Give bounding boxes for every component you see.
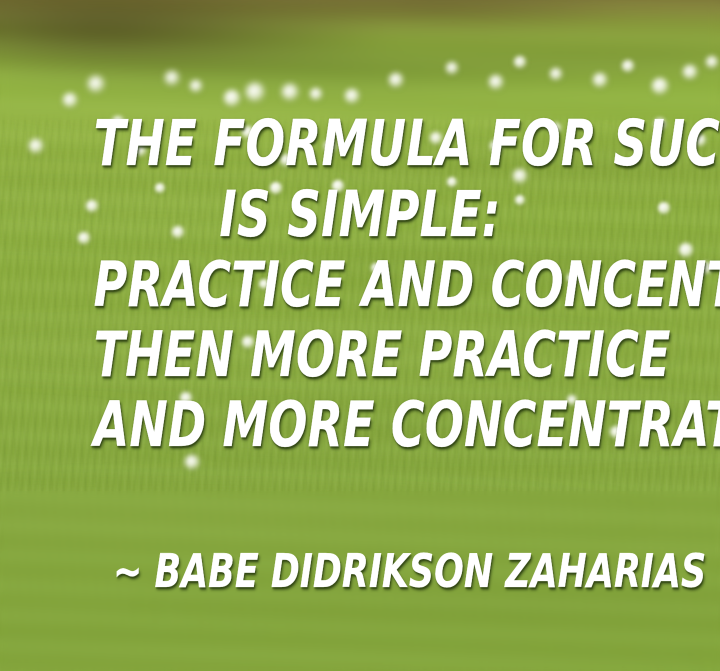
golf-ball xyxy=(593,73,607,87)
golf-ball xyxy=(63,93,77,107)
attribution-block: ~BABE DIDRIKSON ZAHARIAS xyxy=(0,548,720,594)
quote-line-2: IS SIMPLE: xyxy=(94,183,627,246)
quote-line-5: AND MORE CONCENTRATION. xyxy=(94,394,627,456)
golf-ball xyxy=(88,76,104,92)
golf-ball xyxy=(224,90,240,106)
golf-ball xyxy=(622,60,634,72)
golf-ball xyxy=(165,71,179,85)
golf-ball xyxy=(190,80,202,92)
quote-image-card: THE FORMULA FOR SUCCESS IS SIMPLE: PRACT… xyxy=(0,0,720,671)
golf-ball xyxy=(345,89,359,103)
attribution-dash: ~ xyxy=(113,544,142,598)
golf-ball xyxy=(389,73,403,87)
quote-block: THE FORMULA FOR SUCCESS IS SIMPLE: PRACT… xyxy=(0,112,720,456)
quote-line-3: PRACTICE AND CONCENTRATION xyxy=(94,254,627,316)
golf-ball xyxy=(446,62,458,74)
golf-ball xyxy=(706,56,718,68)
golf-ball xyxy=(652,78,668,94)
golf-ball xyxy=(246,83,264,101)
attribution-author: BABE DIDRIKSON ZAHARIAS xyxy=(154,544,706,598)
golf-ball xyxy=(282,84,298,100)
quote-line-1: THE FORMULA FOR SUCCESS xyxy=(94,112,627,175)
golf-ball xyxy=(514,56,526,68)
quote-line-4: THEN MORE PRACTICE xyxy=(94,324,627,386)
attribution-inner: ~BABE DIDRIKSON ZAHARIAS xyxy=(96,548,706,594)
golf-ball xyxy=(683,65,697,79)
golf-ball xyxy=(489,75,503,89)
golf-ball xyxy=(310,88,322,100)
defocus-top xyxy=(0,0,720,120)
golf-ball xyxy=(550,68,562,80)
